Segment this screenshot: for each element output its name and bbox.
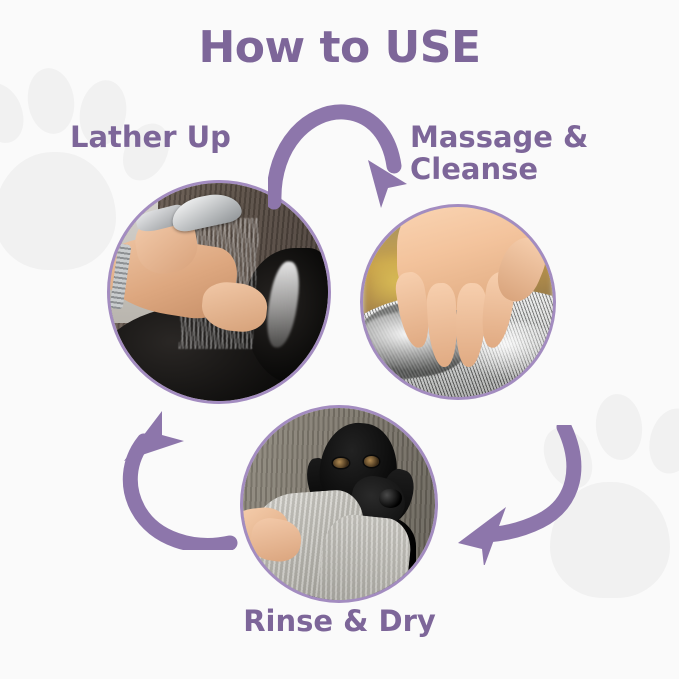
arrow-massage-to-rinse — [452, 425, 587, 565]
step-label-massage: Massage & Cleanse — [410, 121, 588, 186]
step-photo-rinse — [240, 405, 438, 603]
step-label-massage-line2: Cleanse — [410, 153, 588, 185]
page-title: How to USE — [0, 22, 679, 73]
step-label-lather: Lather Up — [70, 121, 231, 153]
step-photo-lather — [107, 180, 331, 404]
shower-photo — [110, 183, 328, 401]
step-label-massage-line1: Massage & — [410, 121, 588, 153]
arrow-rinse-to-lather — [108, 405, 238, 550]
towel-photo — [243, 408, 435, 600]
step-photo-massage — [360, 204, 556, 400]
massage-photo — [363, 207, 553, 397]
step-label-rinse: Rinse & Dry — [0, 605, 679, 637]
infographic-canvas: How to USE Lather Up Massage & Cleanse — [0, 0, 679, 679]
paw-print-watermark — [540, 398, 679, 603]
